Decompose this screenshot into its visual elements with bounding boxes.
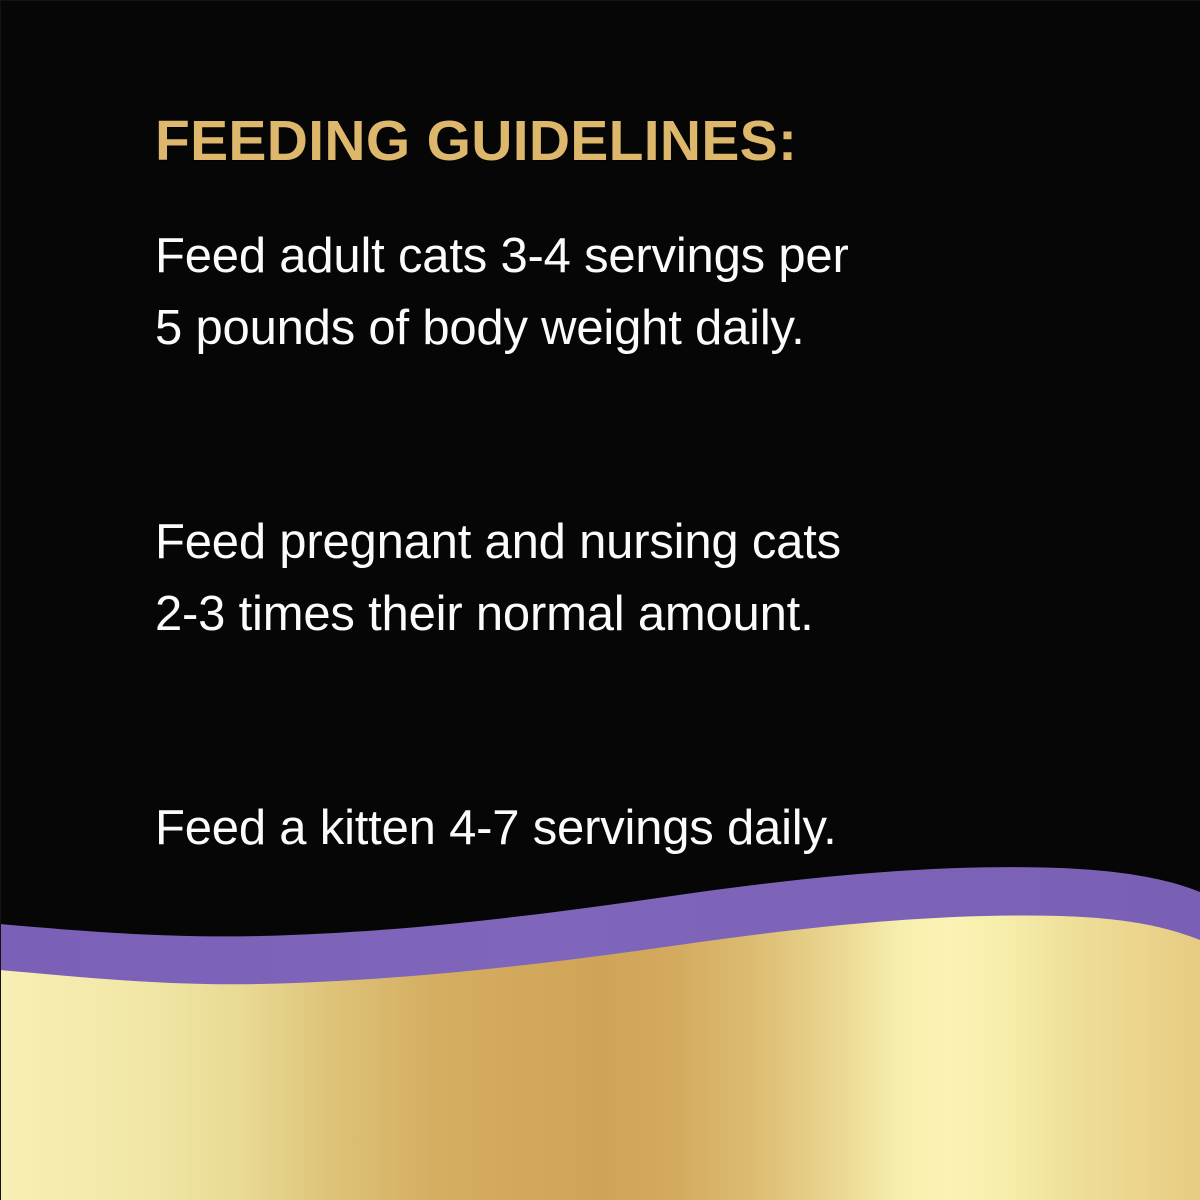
wave-graphic — [0, 860, 1200, 1200]
content-block: FEEDING GUIDELINES: Feed adult cats 3-4 … — [155, 112, 1055, 864]
guideline-line: Feed a kitten 4-7 servings daily. — [155, 792, 1055, 864]
guideline-line: 5 pounds of body weight daily. — [155, 292, 1055, 364]
guideline-line: Feed adult cats 3-4 servings per — [155, 220, 1055, 292]
wave-gold-band — [0, 916, 1200, 1200]
guideline-paragraph-adult: Feed adult cats 3-4 servings per 5 pound… — [155, 220, 1055, 364]
guideline-line: 2-3 times their normal amount. — [155, 578, 1055, 650]
bottom-wave-banner — [0, 860, 1200, 1200]
wave-purple-band — [0, 867, 1200, 998]
page-title: FEEDING GUIDELINES: — [155, 112, 1055, 172]
guideline-line: Feed pregnant and nursing cats — [155, 506, 1055, 578]
guideline-paragraph-pregnant-nursing: Feed pregnant and nursing cats 2-3 times… — [155, 506, 1055, 650]
feeding-guidelines-panel: FEEDING GUIDELINES: Feed adult cats 3-4 … — [0, 0, 1200, 1200]
guideline-paragraph-kitten: Feed a kitten 4-7 servings daily. — [155, 792, 1055, 864]
